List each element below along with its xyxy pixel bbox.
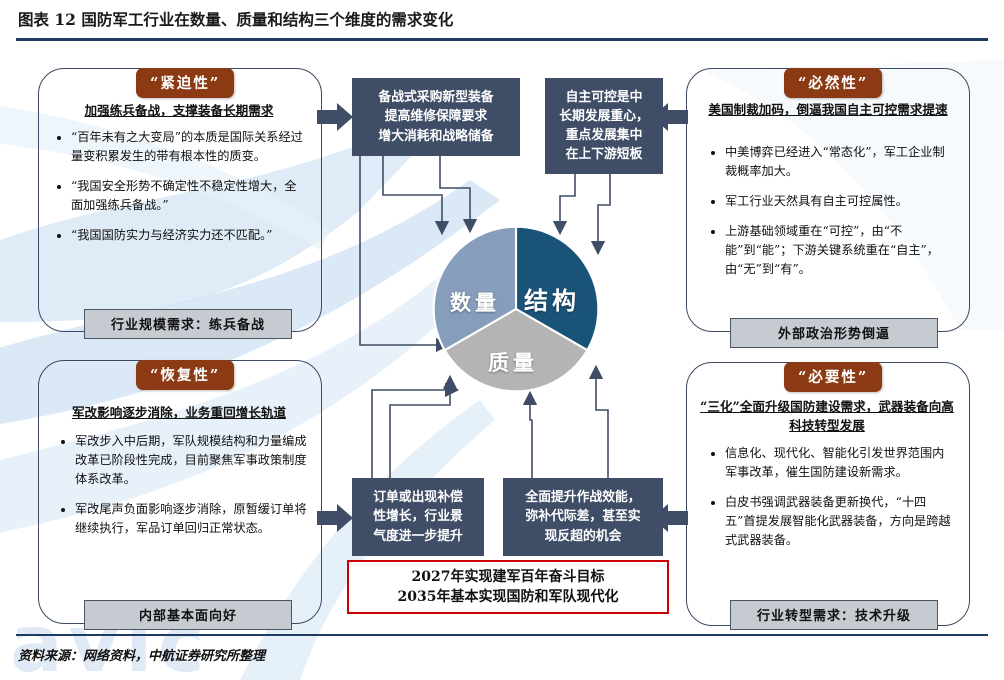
panel-top-right-heading: 美国制裁加码，倒逼我国自主可控需求提速 [698,101,958,120]
goal-box: 2027年实现建军百年奋斗目标 2035年基本实现国防和军队现代化 [347,560,669,614]
source-note: 资料来源：网络资料，中航证券研究所整理 [18,645,265,664]
list-item: 上游基础领域重在“可控”，由“不能”到“能”；下游关键系统重在“自主”，由“无”… [725,222,956,279]
list-item: 信息化、现代化、智能化引发世界范围内军事改革，催生国防建设新需求。 [725,444,956,482]
list-item: 军改步入中后期，军队规模结构和力量编成改革已阶段性完成，目前聚焦军事政策制度体系… [75,432,308,489]
goal-line-1: 2027年实现建军百年奋斗目标 [398,567,619,587]
center-box-bottom-left: 订单或出现补偿 性增长，行业景 气度进一步提升 [352,478,484,556]
box-line: 增大消耗和战略储备 [378,127,493,146]
list-item: “百年未有之大变局”的本质是国际关系经过量变积累发生的带有根本性的质变。 [71,128,308,166]
center-box-bottom-right: 全面提升作战效能， 弥补代际差，甚至实 现反超的机会 [503,478,663,556]
panel-top-left-bullets: “百年未有之大变局”的本质是国际关系经过量变积累发生的带有根本性的质变。 “我国… [52,128,308,256]
panel-top-left-heading: 加强练兵备战，支撑装备长期需求 [48,102,310,121]
list-item: “我国国防实力与经济实力还不匹配。” [71,226,308,245]
box-line: 提高维修保障要求 [378,107,493,126]
box-line: 长期发展重心， [559,107,649,126]
box-line: 全面提升作战效能， [525,488,640,507]
panel-bottom-left-footer: 内部基本面向好 [84,600,292,630]
box-line: 在上下游短板 [559,145,649,164]
panel-bottom-right-bullets: 信息化、现代化、智能化引发世界范围内军事改革，催生国防建设新需求。 白皮书强调武… [706,444,956,561]
box-line: 订单或出现补偿 [373,488,463,507]
list-item: 军工行业天然具有自主可控属性。 [725,192,956,211]
box-line: 自主可控是中 [559,88,649,107]
panel-bottom-right-tag: “必要性” [784,362,882,392]
panel-bottom-left-bullets: 军改步入中后期，军队规模结构和力量编成改革已阶段性完成，目前聚焦军事政策制度体系… [56,432,308,549]
pie-svg [432,225,600,393]
panel-top-left-footer: 行业规模需求：练兵备战 [84,309,292,339]
box-line: 现反超的机会 [525,527,640,546]
box-line: 备战式采购新型装备 [378,88,493,107]
panel-bottom-left-tag: “恢复性” [136,360,234,390]
demand-pie-chart: 数量 结构 质量 [432,225,600,393]
box-line: 气度进一步提升 [373,527,463,546]
box-line: 弥补代际差，甚至实 [525,507,640,526]
box-line: 性增长，行业景 [373,507,463,526]
list-item: 军改尾声负面影响逐步消除，原暂缓订单将继续执行，军品订单回归正常状态。 [75,500,308,538]
center-box-top-left: 备战式采购新型装备 提高维修保障要求 增大消耗和战略储备 [352,78,520,156]
header-divider [16,38,988,41]
list-item: “我国安全形势不确定性不稳定性增大，全面加强练兵备战。” [71,177,308,215]
panel-top-right-tag: “必然性” [784,68,882,98]
panel-bottom-right-heading: “三化”全面升级国防建设需求，武器装备向高科技转型发展 [698,398,956,436]
footer-divider [16,634,988,636]
list-item: 白皮书强调武器装备更新换代，“十四五”首提发展智能化武器装备，方向是跨越式武器装… [725,493,956,550]
list-item: 中美博弈已经进入“常态化”，军工企业制裁概率加大。 [725,143,956,181]
panel-top-left-tag: “紧迫性” [136,68,234,98]
panel-bottom-left-heading: 军改影响逐步消除，业务重回增长轨道 [46,404,312,423]
panel-top-right-bullets: 中美博弈已经进入“常态化”，军工企业制裁概率加大。 军工行业天然具有自主可控属性… [706,143,956,289]
panel-bottom-right-footer: 行业转型需求：技术升级 [730,600,938,630]
center-box-top-right: 自主可控是中 长期发展重心， 重点发展集中 在上下游短板 [545,78,663,174]
figure-title: 图表 12 国防军工行业在数量、质量和结构三个维度的需求变化 [18,8,453,30]
panel-top-right-footer: 外部政治形势倒逼 [730,318,938,348]
box-line: 重点发展集中 [559,126,649,145]
goal-line-2: 2035年基本实现国防和军队现代化 [398,587,619,607]
